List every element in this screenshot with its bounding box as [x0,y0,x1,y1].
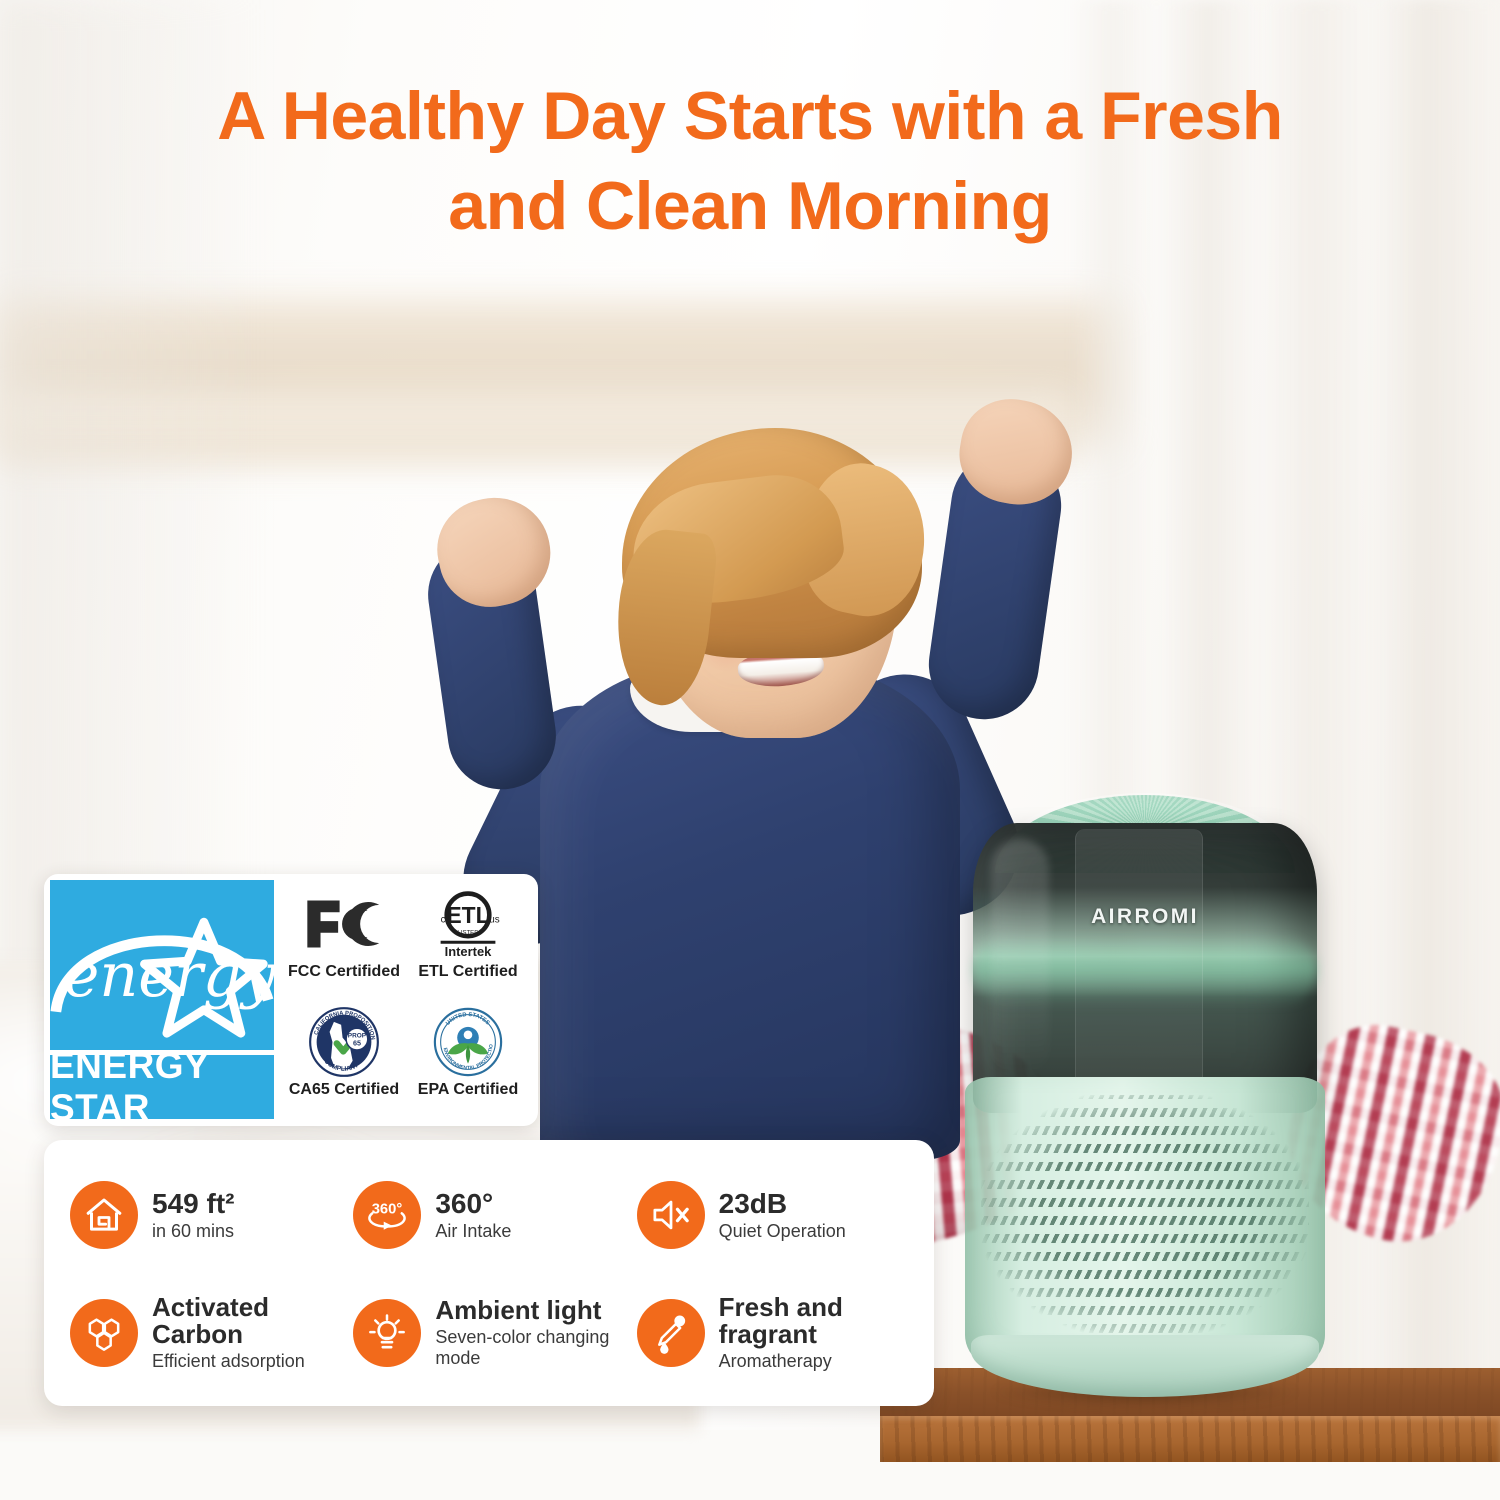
page-title: A Healthy Day Starts with a Fresh and Cl… [0,72,1500,252]
purifier-base [971,1335,1319,1397]
cert-caption-fcc: FCC Certifided [288,963,400,981]
feature-ambient-light: Ambient light Seven-color changing mode [353,1274,636,1392]
energy-star-wordmark: ENERGY STAR [50,1055,274,1119]
feature-subtitle: Seven-color changing mode [435,1327,636,1369]
honeycomb-carbon-icon [70,1299,138,1367]
epa-logo-icon: UNITED STATES ENVIRONMENTAL PROTECTION A… [432,1006,504,1078]
svg-text:c: c [441,914,446,925]
fcc-logo-icon [300,888,388,960]
headline-line-2: and Clean Morning [448,168,1052,244]
feature-subtitle: Air Intake [435,1221,511,1242]
cert-caption-etl: ETL Certified [418,963,517,981]
feature-subtitle: Efficient adsorption [152,1351,353,1372]
cert-item-ca65: PROP 65 CALIFORNIA PROPOSITION 65 COMPLI… [282,1000,406,1118]
cert-caption-ca65: CA65 Certified [289,1081,399,1099]
certifications-card: energy ENERGY STAR FCC Certifided [44,874,538,1126]
cert-item-etl: ETL c us LISTED Intertek ETL Certified [406,882,530,1000]
lightbulb-icon [353,1299,421,1367]
feature-title: 549 ft² [152,1189,234,1218]
feature-title: 23dB [719,1189,846,1218]
cert-caption-epa: EPA Certified [418,1081,518,1099]
feature-coverage-area: 549 ft² in 60 mins [70,1156,353,1274]
feature-subtitle: in 60 mins [152,1221,234,1242]
svg-text:us: us [489,914,499,925]
floor-area [880,1462,1500,1500]
purifier-vent-slots [981,1095,1309,1333]
rotation-360-icon: 360° [353,1181,421,1249]
ca65-prop65-logo-icon: PROP 65 CALIFORNIA PROPOSITION 65 COMPLI… [308,1006,380,1078]
svg-text:360°: 360° [372,1201,403,1217]
feature-noise-level: 23dB Quiet Operation [637,1156,920,1274]
feature-title: Activated Carbon [152,1294,353,1348]
svg-text:LISTED: LISTED [457,930,479,937]
purifier-dome-highlight [991,839,1049,1079]
dropper-icon [637,1299,705,1367]
svg-text:energy: energy [64,941,274,1011]
product-brand-logo: AIRROMI [955,905,1335,929]
certification-marks-grid: FCC Certifided ETL c us LISTED Intertek … [280,874,538,1126]
speaker-muted-icon [637,1181,705,1249]
wood-table-edge [880,1416,1500,1464]
etl-logo-icon: ETL c us LISTED Intertek [422,888,514,960]
features-card: 549 ft² in 60 mins 360° 360° Air Intake … [44,1140,934,1406]
air-purifier-product: AIRROMI [955,795,1335,1405]
feature-title: Fresh and fragrant [719,1294,920,1348]
svg-text:65: 65 [353,1039,361,1048]
feature-air-intake: 360° 360° Air Intake [353,1156,636,1274]
feature-title: Ambient light [435,1297,636,1324]
purifier-dome-panel [1075,829,1203,1097]
house-icon [70,1181,138,1249]
feature-subtitle: Aromatherapy [719,1351,920,1372]
cert-item-fcc: FCC Certifided [282,882,406,1000]
feature-title: 360° [435,1189,511,1218]
energy-star-emblem: energy [50,880,274,1050]
energy-star-logo: energy ENERGY STAR [44,874,280,1126]
feature-subtitle: Quiet Operation [719,1221,846,1242]
energy-star-graphic: energy [50,880,274,1050]
feature-activated-carbon: Activated Carbon Efficient adsorption [70,1274,353,1392]
cert-item-epa: UNITED STATES ENVIRONMENTAL PROTECTION A… [406,1000,530,1118]
svg-text:Intertek: Intertek [445,944,492,959]
svg-text:ETL: ETL [446,902,489,928]
feature-aromatherapy: Fresh and fragrant Aromatherapy [637,1274,920,1392]
headline-line-1: A Healthy Day Starts with a Fresh [217,78,1283,154]
